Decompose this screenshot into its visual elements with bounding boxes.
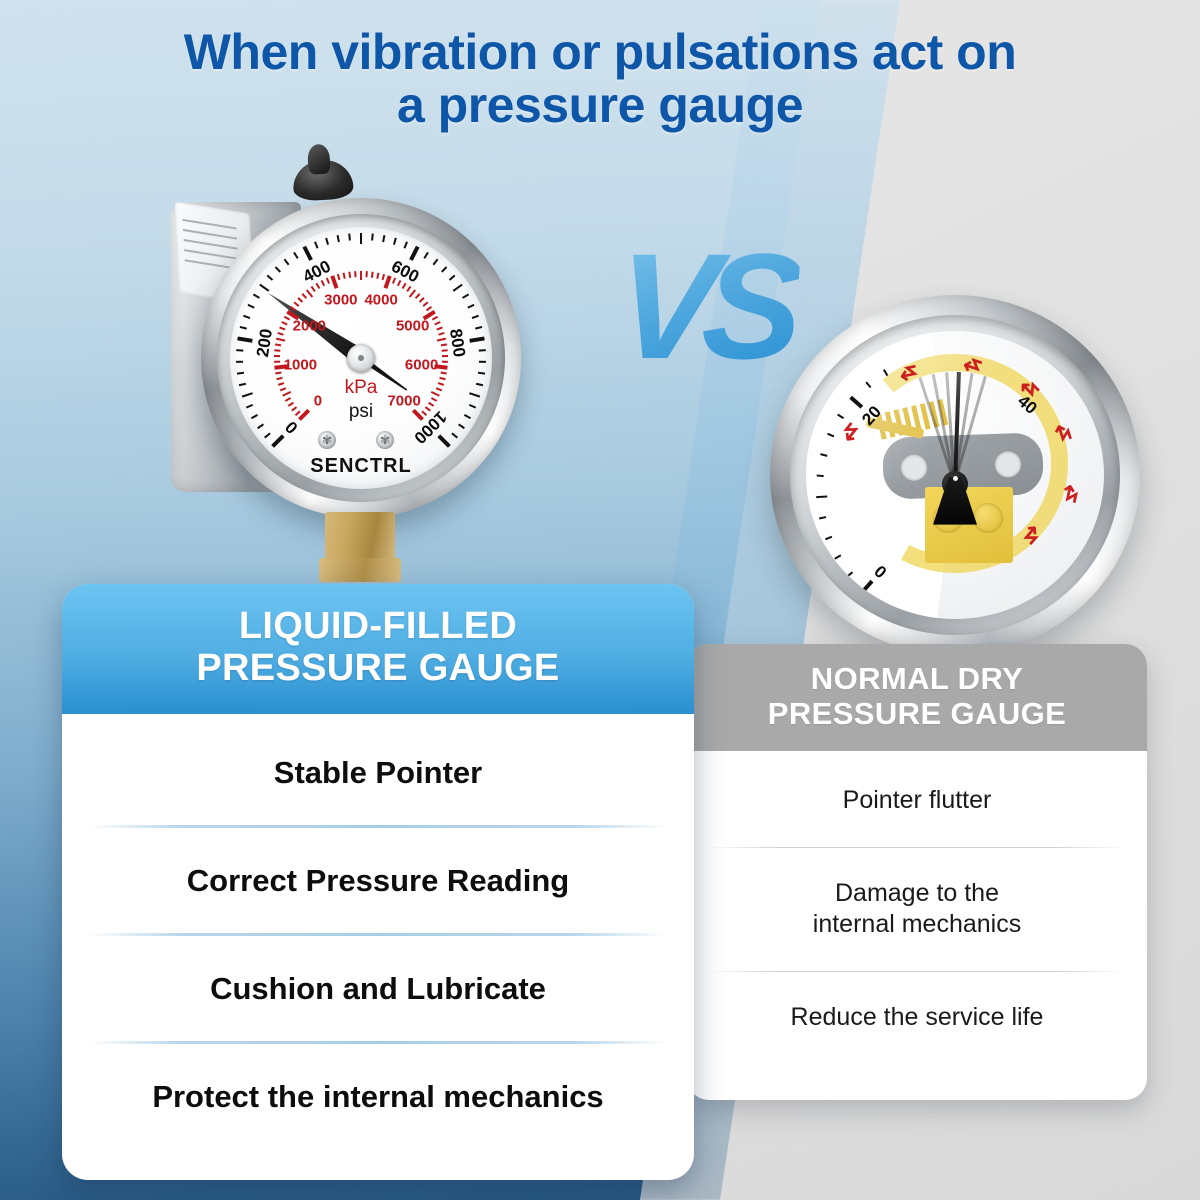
list-item-line: Stable Pointer <box>92 754 664 791</box>
liquid-filled-gauge-image: kPa psi SENCTRL 020040060080010000100020… <box>165 160 535 590</box>
dial-number-kpa: 1000 <box>284 356 317 373</box>
liquid-card-list-item: Cushion and Lubricate <box>88 936 668 1041</box>
dry-card-list: Pointer flutterDamage to theinternal mec… <box>687 751 1147 1063</box>
gauge-bezel: kPa psi SENCTRL 020040060080010000100020… <box>201 198 521 518</box>
unit-label-psi: psi <box>349 401 373 423</box>
list-item-line: Pointer flutter <box>713 785 1121 817</box>
dial-screw-right-icon <box>376 431 394 449</box>
dial-number-kpa: 6000 <box>405 356 438 373</box>
dry-gauge-bezel-inner: 02040↯↯↯↯↯↯↯ <box>790 315 1120 635</box>
needle-hub <box>347 344 375 372</box>
dry-card-header: NORMAL DRY PRESSURE GAUGE <box>687 644 1147 751</box>
dial-screw-left-icon <box>318 431 336 449</box>
page-title: When vibration or pulsations act on a pr… <box>0 26 1200 132</box>
page-title-line-1: When vibration or pulsations act on <box>184 24 1017 80</box>
gauge-bezel-inner: kPa psi SENCTRL 020040060080010000100020… <box>217 214 505 502</box>
gauge-brand-label: SENCTRL <box>310 455 411 478</box>
list-item-line: Reduce the service life <box>713 1002 1121 1034</box>
list-item-line: Protect the internal mechanics <box>92 1078 664 1115</box>
liquid-card-list-item: Correct Pressure Reading <box>88 828 668 933</box>
gauge-dial-face: kPa psi SENCTRL 020040060080010000100020… <box>230 227 492 489</box>
vibration-marker-icon: ↯ <box>1061 479 1081 507</box>
liquid-card-header-line-1: LIQUID-FILLED <box>74 606 682 648</box>
list-item-line: Correct Pressure Reading <box>92 862 664 899</box>
dry-card-list-item: Damage to theinternal mechanics <box>707 848 1127 971</box>
liquid-card-header: LIQUID-FILLED PRESSURE GAUGE <box>62 584 694 714</box>
list-item-line: Damage to the <box>713 878 1121 910</box>
liquid-card-list-item: Protect the internal mechanics <box>88 1044 668 1149</box>
dry-gauge-bezel: 02040↯↯↯↯↯↯↯ <box>770 295 1140 655</box>
list-item-line: Cushion and Lubricate <box>92 970 664 1007</box>
liquid-card-header-line-2: PRESSURE GAUGE <box>74 648 682 690</box>
gauge-brass-stem <box>325 512 395 580</box>
dial-number-kpa: 0 <box>314 393 322 410</box>
liquid-gauge-card: LIQUID-FILLED PRESSURE GAUGE Stable Poin… <box>62 584 694 1180</box>
dry-gauge-card: NORMAL DRY PRESSURE GAUGE Pointer flutte… <box>687 644 1147 1100</box>
dry-gauge-dial-face: 02040↯↯↯↯↯↯↯ <box>806 331 1104 619</box>
page-title-line-2: a pressure gauge <box>0 79 1200 132</box>
dial-number-kpa: 3000 <box>324 292 357 309</box>
dial-number-psi: 200 <box>253 327 277 358</box>
unit-label-kpa: kPa <box>345 377 378 399</box>
dry-card-list-item: Reduce the service life <box>707 972 1127 1064</box>
dry-gauge-image: 02040↯↯↯↯↯↯↯ <box>770 295 1140 655</box>
dial-number-kpa: 2000 <box>293 317 326 334</box>
vibration-marker-icon: ↯ <box>958 354 987 377</box>
liquid-card-list-item: Stable Pointer <box>88 720 668 825</box>
dial-number-psi: 800 <box>445 327 469 358</box>
dial-number-kpa: 5000 <box>396 317 429 334</box>
dial-number-kpa: 4000 <box>364 292 397 309</box>
dry-card-list-item: Pointer flutter <box>707 755 1127 847</box>
dry-card-header-line-1: NORMAL DRY <box>697 662 1137 697</box>
liquid-card-list: Stable PointerCorrect Pressure ReadingCu… <box>62 714 694 1158</box>
list-item-line: internal mechanics <box>713 909 1121 941</box>
dial-number-kpa: 7000 <box>387 393 420 410</box>
dry-card-header-line-2: PRESSURE GAUGE <box>697 697 1137 732</box>
pressure-relief-vent-icon <box>292 158 354 201</box>
